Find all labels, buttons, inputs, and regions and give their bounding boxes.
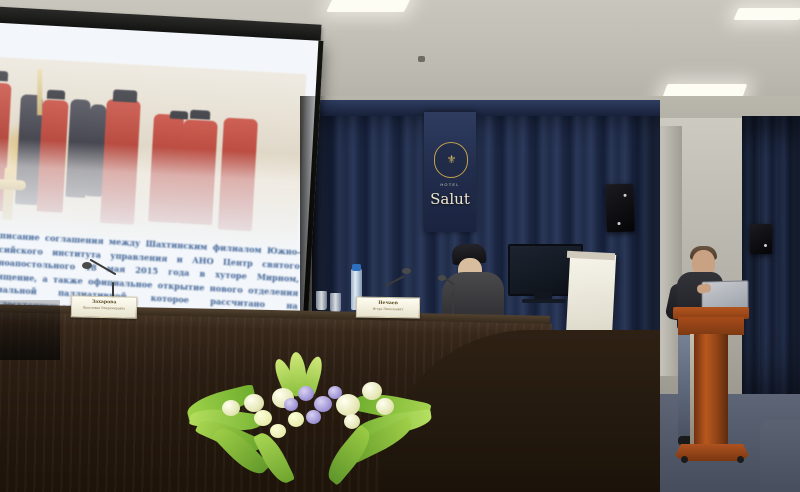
nameplate: Захарова Ярославна Владимировна — [71, 295, 138, 319]
microphone-head-icon — [82, 262, 92, 269]
podium-column — [694, 334, 728, 446]
podium-caster — [737, 456, 744, 463]
stage-curtain-right — [742, 116, 800, 422]
microphone-head-icon — [402, 268, 411, 274]
tv-base — [522, 299, 566, 303]
podium-front-panel — [678, 317, 744, 335]
bottle-cap — [352, 264, 361, 271]
crest-glyph: ⚜ — [435, 143, 467, 177]
podium-caster — [681, 456, 688, 463]
flower-arrangement — [186, 352, 438, 492]
conference-hall-photo: ⚜ HOTEL Salut подписание — [0, 0, 800, 492]
nameplate: Нечаев Игорь Николаевич — [356, 296, 420, 318]
stage-step — [760, 420, 800, 492]
speaker-led-icon — [624, 194, 627, 197]
curtain-pelmet — [312, 100, 660, 116]
left-shadow — [0, 300, 60, 360]
drinking-glass — [316, 291, 327, 310]
banner-eyebrow: HOTEL — [424, 182, 476, 187]
microphone-head-icon — [438, 275, 446, 281]
speaker-led-icon — [617, 222, 620, 225]
loudspeaker-left — [605, 184, 635, 233]
drinking-glass — [330, 293, 341, 312]
projection-screen: подписание соглашения между Шахтинским ф… — [0, 22, 323, 346]
hotel-crest-icon: ⚜ — [434, 142, 468, 178]
nameplate-role: Ярославна Владимировна — [72, 305, 136, 311]
banner-hotel-name: Salut — [424, 190, 476, 208]
loudspeaker-right — [750, 224, 772, 254]
speaker-led-icon — [764, 244, 767, 247]
ceiling-light-panel — [733, 8, 800, 20]
hotel-banner: ⚜ HOTEL Salut — [424, 112, 476, 232]
projector-light-wash — [0, 56, 307, 249]
nameplate-role: Игорь Николаевич — [357, 306, 419, 311]
ceiling-light-panel — [326, 0, 412, 12]
ceiling-sensor-icon — [418, 56, 425, 62]
slide-photo — [0, 56, 307, 249]
flipchart-easel[interactable] — [566, 255, 616, 337]
